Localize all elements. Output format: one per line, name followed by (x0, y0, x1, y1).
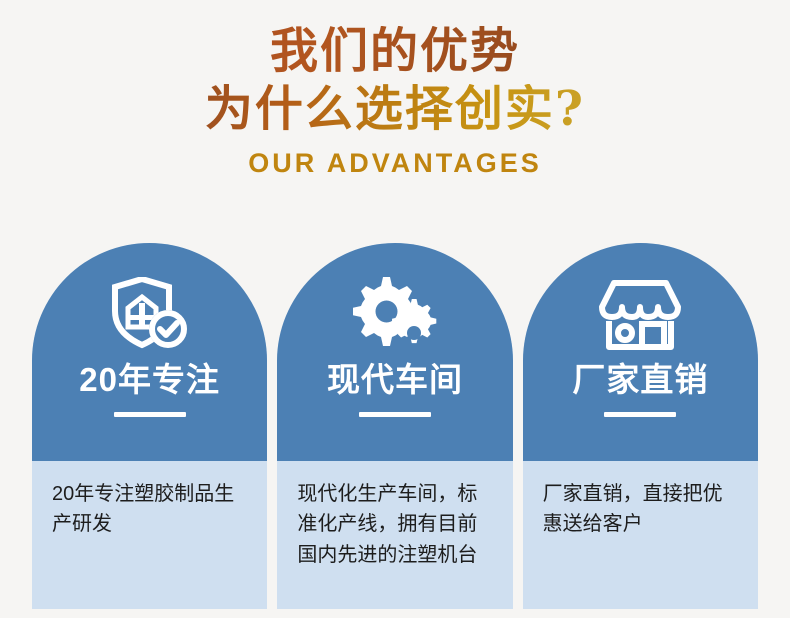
gears-icon (353, 277, 437, 351)
advantages-page: 我们的优势 为什么选择创实? OUR ADVANTAGES (0, 0, 790, 618)
card-description: 20年专注塑胶制品生产研发 (52, 479, 247, 540)
advantage-card[interactable]: 现代车间 现代化生产车间，标准化产线，拥有目前国内先进的注塑机台 (277, 243, 512, 609)
card-title-underline (359, 412, 431, 417)
card-description: 现代化生产车间，标准化产线，拥有目前国内先进的注塑机台 (297, 479, 492, 570)
card-title: 厂家直销 (572, 363, 708, 396)
advantage-card[interactable]: 厂家直销 厂家直销，直接把优惠送给客户 (523, 243, 758, 609)
page-title-primary: 我们的优势 (0, 26, 790, 78)
page-subtitle-english: OUR ADVANTAGES (0, 148, 790, 179)
page-title-secondary: 为什么选择创实? (0, 84, 790, 136)
shield-check-factory-icon (111, 277, 189, 351)
card-header: 现代车间 (277, 243, 512, 461)
card-description: 厂家直销，直接把优惠送给客户 (543, 479, 738, 540)
storefront-icon (596, 277, 684, 351)
card-header: 厂家直销 (523, 243, 758, 461)
header: 我们的优势 为什么选择创实? OUR ADVANTAGES (0, 0, 790, 179)
advantage-card-list: 20年专注 20年专注塑胶制品生产研发 (32, 243, 758, 609)
card-body: 20年专注塑胶制品生产研发 (32, 461, 267, 609)
card-title: 现代车间 (327, 363, 463, 396)
card-body: 现代化生产车间，标准化产线，拥有目前国内先进的注塑机台 (277, 461, 512, 609)
card-title: 20年专注 (79, 363, 220, 396)
card-title-underline (604, 412, 676, 417)
card-header: 20年专注 (32, 243, 267, 461)
advantage-card[interactable]: 20年专注 20年专注塑胶制品生产研发 (32, 243, 267, 609)
card-title-underline (114, 412, 186, 417)
card-body: 厂家直销，直接把优惠送给客户 (523, 461, 758, 609)
